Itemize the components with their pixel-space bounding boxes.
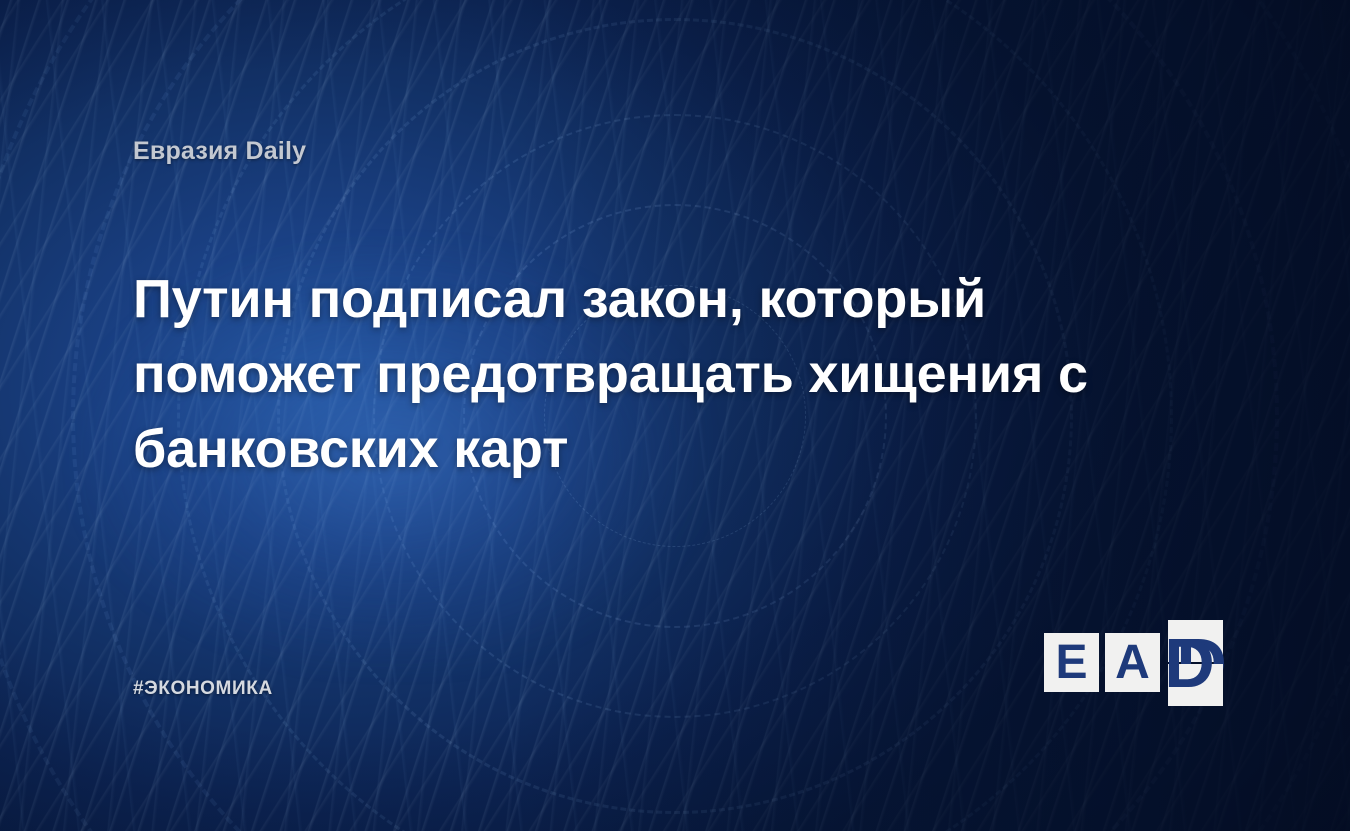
brand-name: Евразия Daily [133,137,306,166]
logo-tile-e: E [1044,633,1099,692]
logo-letter-d-lower: D [1162,620,1217,706]
logo-tile-d-bottom: D [1168,664,1223,706]
headline: Путин подписал закон, который поможет пр… [133,262,1093,487]
logo-tile-a: A [1105,633,1160,692]
logo-letter-e: E [1044,633,1099,692]
logo-letter-a: A [1105,633,1160,692]
category-tag: #ЭКОНОМИКА [133,678,273,700]
ead-logo: E A D D [1044,620,1224,706]
news-card: Евразия Daily Путин подписал закон, кото… [0,0,1350,831]
